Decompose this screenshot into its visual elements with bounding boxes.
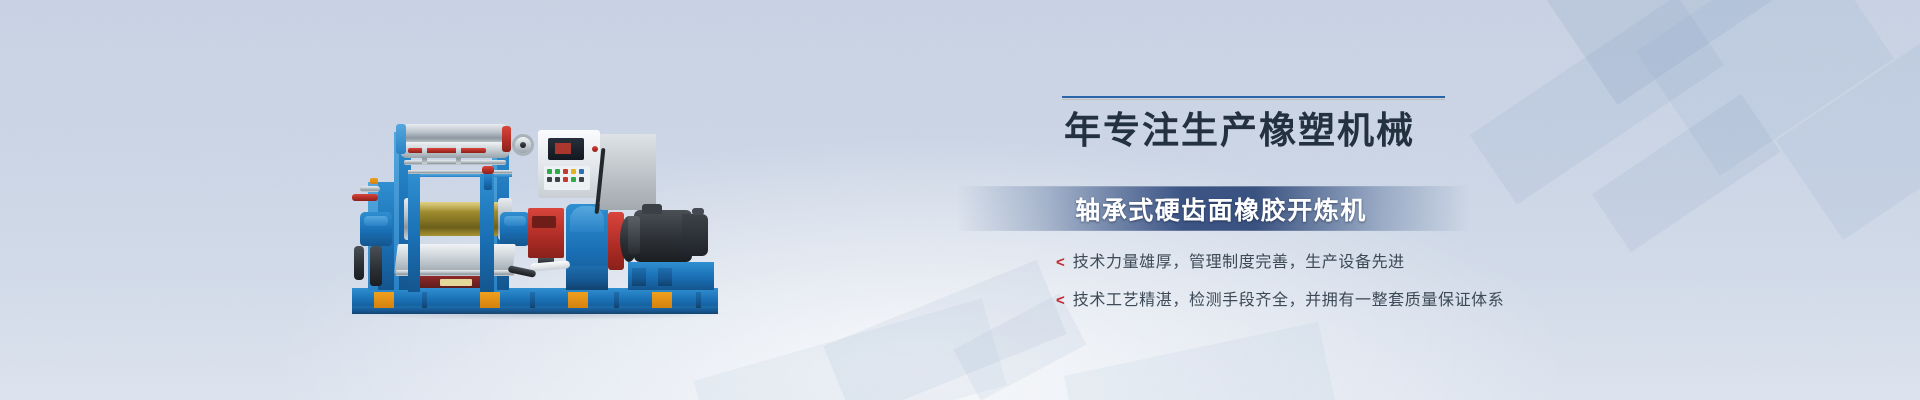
feature-list: < 技术力量雄厚，管理制度完善，生产设备先进 < 技术工艺精湛，检测手段齐全，并… (1056, 248, 1656, 324)
subtitle-text: 轴承式硬齿面橡胶开炼机 (958, 191, 1470, 227)
chevron-left-icon: < (1056, 292, 1065, 309)
hero-banner: 年专注生产橡塑机械 轴承式硬齿面橡胶开炼机 < 技术力量雄厚，管理制度完善，生产… (0, 0, 1920, 400)
list-item: < 技术力量雄厚，管理制度完善，生产设备先进 (1056, 248, 1656, 272)
headline-top-rule-accent (1062, 99, 1445, 100)
page-title: 年专注生产橡塑机械 (1064, 107, 1660, 153)
list-item-label: 技术力量雄厚，管理制度完善，生产设备先进 (1073, 248, 1405, 272)
headline-top-rule (1062, 96, 1445, 98)
list-item-label: 技术工艺精湛，检测手段齐全，并拥有一整套质量保证体系 (1073, 286, 1505, 310)
list-item: < 技术工艺精湛，检测手段齐全，并拥有一整套质量保证体系 (1056, 286, 1656, 310)
product-image-rubber-mixing-mill (352, 116, 732, 326)
banner-text-block: 年专注生产橡塑机械 轴承式硬齿面橡胶开炼机 < 技术力量雄厚，管理制度完善，生产… (1060, 96, 1660, 153)
subtitle-banner: 轴承式硬齿面橡胶开炼机 (958, 186, 1470, 231)
chevron-left-icon: < (1056, 254, 1065, 271)
